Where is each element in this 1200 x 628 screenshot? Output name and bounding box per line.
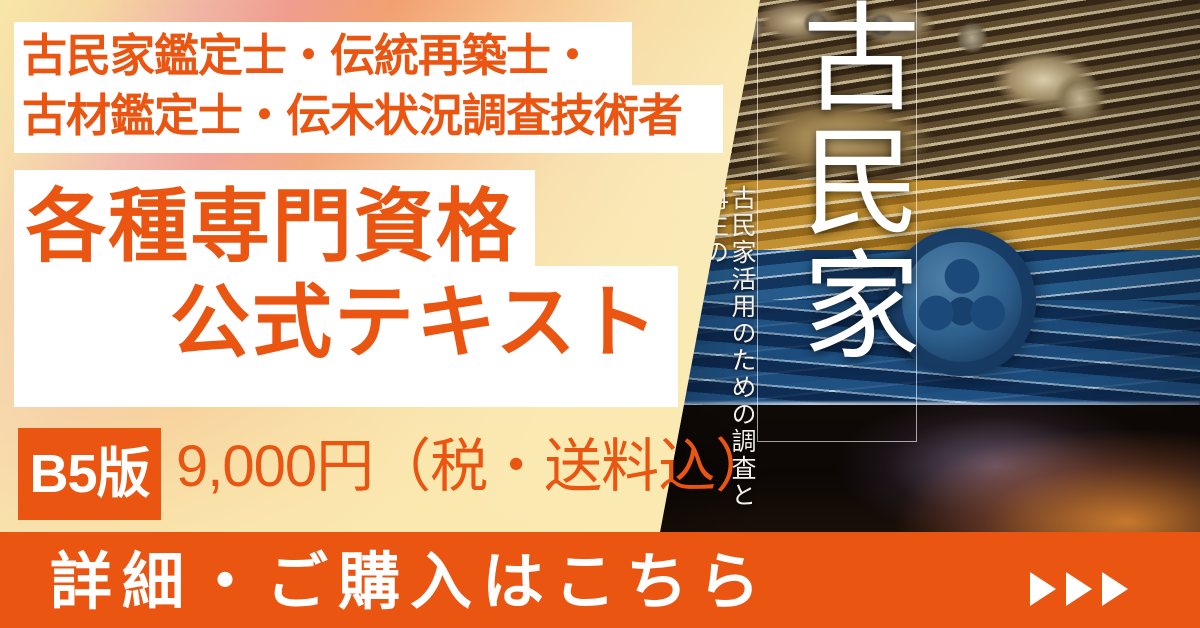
cover-title: 古民家: [758, 0, 916, 368]
subtitle-line-1: 古民家鑑定士・伝統再築士・: [22, 33, 594, 78]
cta-arrow-group: [1030, 572, 1128, 606]
price-text: 9,000円（税・送料込）: [176, 438, 772, 496]
headline-line-2: 公式テキスト: [170, 283, 660, 363]
play-arrow-icon-3: [1102, 572, 1128, 606]
play-arrow-icon-2: [1066, 572, 1092, 606]
promotional-banner[interactable]: 伝統構法 古民家活用のための調査と再生の 古民家 古民家鑑定士・伝統再築士・ 古…: [0, 0, 1200, 628]
size-badge: B5版: [18, 428, 161, 520]
cta-label: 詳細・ご購入はこちら: [50, 552, 770, 614]
price-row: B5版 9,000円（税・送料込）: [0, 424, 700, 524]
headline-line-1: 各種専門資格: [26, 187, 518, 267]
play-arrow-icon-1: [1030, 572, 1056, 606]
cta-bar[interactable]: 詳細・ご購入はこちら: [0, 532, 1200, 628]
subtitle-line-2: 古材鑑定士・伝木状況調査技術者: [22, 93, 682, 138]
